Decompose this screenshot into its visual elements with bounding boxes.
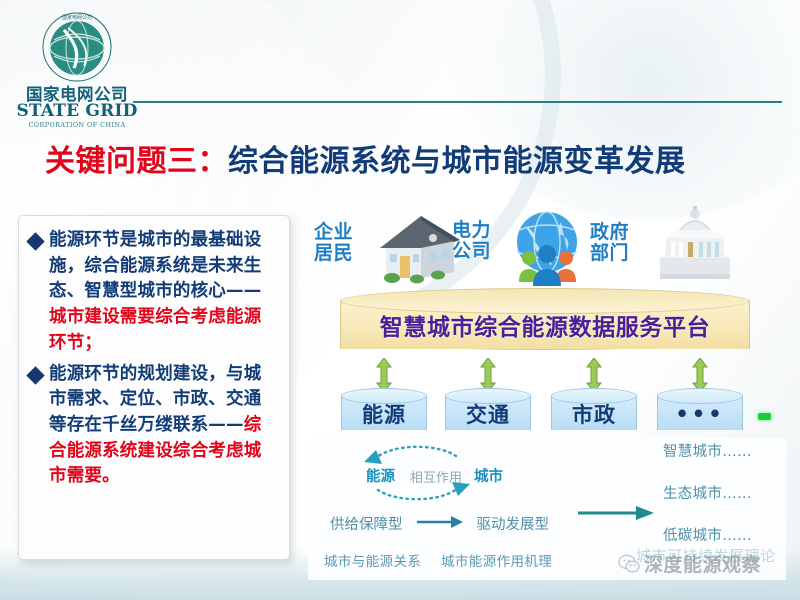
actor-label-line1: 企业 xyxy=(314,222,353,243)
flow-to-label: 驱动发展型 xyxy=(477,513,550,534)
platform-link-arrow xyxy=(376,358,392,392)
government-building-icon xyxy=(652,202,738,286)
page-title: 关键问题三：综合能源系统与城市能源变革发展 xyxy=(45,140,760,184)
cycle-left-label: 能源 xyxy=(366,465,395,486)
actor-label-line2: 部门 xyxy=(590,243,629,264)
domain-cylinder-municipal[interactable]: 市政 xyxy=(551,388,637,438)
actor-government-department: 政府 部门 xyxy=(590,222,629,264)
header-divider-rule xyxy=(133,101,782,103)
panel-caption-mechanism: 城市能源作用机理 xyxy=(441,550,552,570)
actor-label-line2: 居民 xyxy=(314,243,353,264)
bullet-text: 能源环节是城市的最基础设施，综合能源系统是未来生态、智慧型城市的核心——城市建设… xyxy=(49,228,279,357)
evolution-flow: 供给保障型 驱动发展型 xyxy=(330,510,560,536)
logo-company-name-en: STATE GRID xyxy=(12,103,142,121)
status-badge xyxy=(758,413,771,420)
page-title-prefix: 关键问题三： xyxy=(45,144,228,179)
actor-label-line1: 电力 xyxy=(452,220,491,241)
globe-people-icon xyxy=(505,206,589,288)
actor-enterprise-residents: 企业 居民 xyxy=(314,222,353,264)
panel-caption-relationship: 城市与能源关系 xyxy=(324,550,421,570)
key-points-card: 能源环节是城市的最基础设施，综合能源系统是未来生态、智慧型城市的核心——城市建设… xyxy=(18,215,290,560)
outcome-item: 低碳城市…… xyxy=(663,524,783,545)
page-title-body: 综合能源系统与城市能源变革发展 xyxy=(228,144,686,179)
energy-platform-diagram: 企业 居民 电力 xyxy=(300,200,788,582)
bullet-item: 能源环节是城市的最基础设施，综合能源系统是未来生态、智慧型城市的核心——城市建设… xyxy=(27,228,279,357)
interaction-cycle: 能源 相互作用 城市 xyxy=(338,442,538,506)
platform-link-arrow xyxy=(480,358,496,392)
platform-link-arrow xyxy=(692,358,708,392)
watermark: 深度能源观察 xyxy=(618,550,761,577)
logo-company-subtitle: CORPORATION OF CHINA xyxy=(12,122,142,130)
cylinder-label: 交通 xyxy=(445,399,531,429)
domain-cylinder-transport[interactable]: 交通 xyxy=(445,388,531,438)
state-grid-logo: 国家电网公司 国家电网公司 STATE GRID CORPORATION OF … xyxy=(12,10,142,130)
platform-label: 智慧城市综合能源数据服务平台 xyxy=(340,308,750,342)
outcome-arrow-icon xyxy=(578,504,654,522)
wechat-account-icon xyxy=(618,553,640,575)
domain-cylinder-more[interactable]: ••• xyxy=(657,388,743,438)
state-grid-globe-logo-icon: 国家电网公司 xyxy=(40,10,114,84)
outcome-item: 生态城市…… xyxy=(663,482,783,503)
bullet-text-normal: 能源环节是城市的最基础设施，综合能源系统是未来生态、智慧型城市的核心—— xyxy=(49,230,261,301)
flow-arrow-icon xyxy=(417,514,463,533)
bullet-text: 能源环节的规划建设，与城市需求、定位、市政、交通等存在千丝万缕联系——综合能源系… xyxy=(49,362,279,491)
platform-link-arrow xyxy=(586,358,602,392)
flow-from-label: 供给保障型 xyxy=(330,513,403,534)
actor-power-company: 电力 公司 xyxy=(452,220,491,262)
slide-root: 国家电网公司 国家电网公司 STATE GRID CORPORATION OF … xyxy=(0,0,800,600)
cylinder-label: 市政 xyxy=(551,399,637,429)
diamond-bullet-icon xyxy=(26,366,44,384)
cycle-right-label: 城市 xyxy=(474,465,503,486)
cylinder-label: 能源 xyxy=(341,399,427,429)
bullet-text-normal: 能源环节的规划建设，与城市需求、定位、市政、交通等存在千丝万缕联系—— xyxy=(49,364,261,435)
actor-label-line1: 政府 xyxy=(590,222,629,243)
actor-label-line2: 公司 xyxy=(452,241,491,262)
bullet-text-highlight: 城市建设需要综合考虑能源环节； xyxy=(49,307,261,353)
svg-text:国家电网公司: 国家电网公司 xyxy=(62,14,92,21)
watermark-label: 深度能源观察 xyxy=(644,550,761,577)
outcome-item: 智慧城市…… xyxy=(663,440,783,461)
platform-cylinder: 智慧城市综合能源数据服务平台 xyxy=(340,288,750,360)
cycle-middle-label: 相互作用 xyxy=(410,467,462,486)
bullet-item: 能源环节的规划建设，与城市需求、定位、市政、交通等存在千丝万缕联系——综合能源系… xyxy=(27,362,279,491)
domain-cylinder-energy[interactable]: 能源 xyxy=(341,388,427,438)
diamond-bullet-icon xyxy=(26,232,44,250)
cylinder-label: ••• xyxy=(657,404,743,425)
